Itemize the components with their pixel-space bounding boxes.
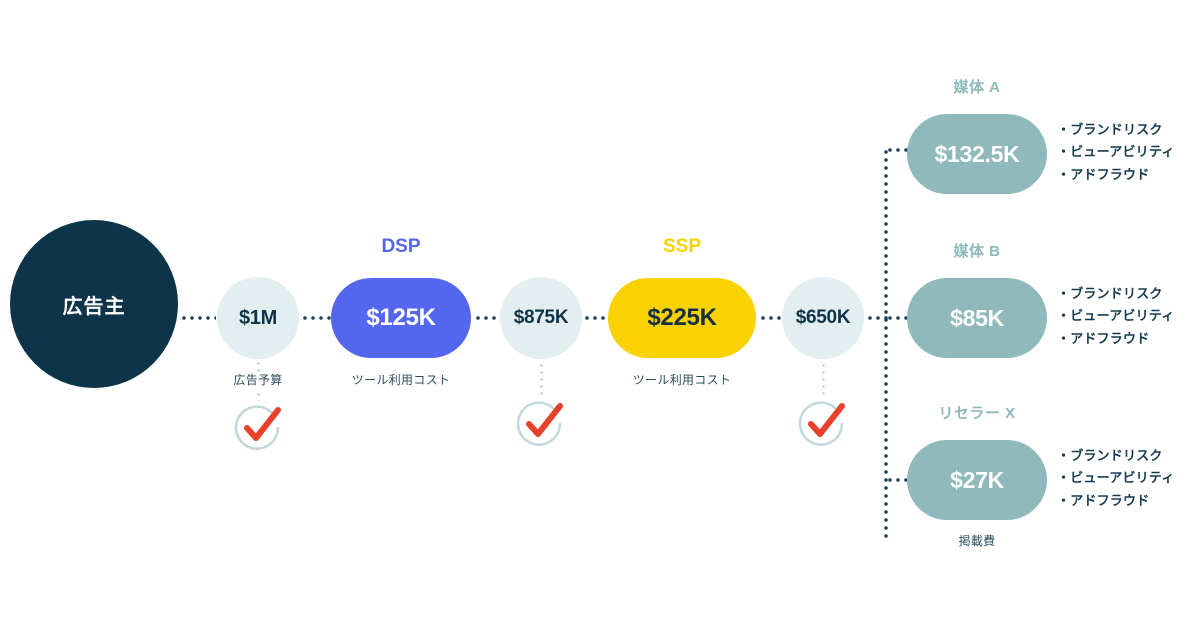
advertiser-node: 広告主: [10, 220, 178, 388]
list-item: ・アドフラウド: [1057, 164, 1175, 186]
list-item: ・ブランドリスク: [1057, 119, 1175, 141]
stub-budget: [257, 360, 260, 372]
node-after-ssp: $650K: [782, 277, 864, 359]
list-item: ・アドフラウド: [1057, 328, 1175, 350]
advertiser-label: 広告主: [63, 290, 126, 319]
list-item: ・ブランドリスク: [1057, 283, 1175, 305]
check-badge-budget: [230, 398, 288, 456]
connector-after-dsp-to-ssp: [583, 316, 609, 320]
stub-after-dsp: [540, 362, 543, 396]
list-item: ・ビューアビリティ: [1057, 305, 1175, 327]
budget-caption: 広告予算: [198, 371, 318, 388]
list-item: ・アドフラウド: [1057, 490, 1175, 512]
list-item: ・ビューアビリティ: [1057, 467, 1175, 489]
ssp-caption: ツール利用コスト: [602, 371, 762, 388]
stub-after-ssp: [822, 362, 825, 396]
check-circle-icon: [230, 398, 288, 456]
reseller-x-header-label: リセラー X: [907, 402, 1047, 423]
ad-spend-flow-diagram: 広告主 $1M 広告予算 DSP $125K ツール利用コスト $875K SS: [0, 0, 1200, 630]
media-a-risk-list: ・ブランドリスク ・ビューアビリティ ・アドフラウド: [1057, 119, 1175, 186]
node-ssp: $225K: [608, 278, 756, 358]
list-item: ・ビューアビリティ: [1057, 141, 1175, 163]
ssp-amount: $225K: [647, 304, 716, 332]
connector-dsp-to-after-dsp: [474, 316, 500, 320]
node-budget: $1M: [217, 277, 299, 359]
check-badge-after-ssp: [794, 394, 852, 452]
dsp-caption: ツール利用コスト: [321, 371, 481, 388]
node-media-b: $85K: [907, 278, 1047, 358]
check-circle-icon: [512, 394, 570, 452]
node-after-dsp: $875K: [500, 277, 582, 359]
node-reseller-x: $27K: [907, 440, 1047, 520]
list-item: ・ブランドリスク: [1057, 445, 1175, 467]
media-a-header-label: 媒体 A: [907, 76, 1047, 97]
check-badge-after-dsp: [512, 394, 570, 452]
node-dsp: $125K: [331, 278, 471, 358]
after-ssp-amount: $650K: [796, 307, 851, 329]
reseller-x-risk-list: ・ブランドリスク ・ビューアビリティ ・アドフラウド: [1057, 445, 1175, 512]
connector-advertiser-to-budget: [180, 316, 216, 320]
node-media-a: $132.5K: [907, 114, 1047, 194]
dsp-header-label: DSP: [331, 236, 471, 258]
media-b-header-label: 媒体 B: [907, 240, 1047, 261]
media-b-amount: $85K: [950, 305, 1004, 332]
connector-budget-to-dsp: [301, 316, 331, 320]
connector-ssp-to-after-ssp: [759, 316, 783, 320]
after-dsp-amount: $875K: [514, 307, 569, 329]
media-a-amount: $132.5K: [935, 141, 1020, 168]
dsp-amount: $125K: [366, 304, 435, 332]
budget-amount: $1M: [239, 307, 277, 330]
reseller-x-amount: $27K: [950, 467, 1004, 494]
ssp-header-label: SSP: [608, 236, 756, 258]
check-circle-icon: [794, 394, 852, 452]
reseller-x-caption: 掲載費: [907, 532, 1047, 549]
media-b-risk-list: ・ブランドリスク ・ビューアビリティ ・アドフラウド: [1057, 283, 1175, 350]
